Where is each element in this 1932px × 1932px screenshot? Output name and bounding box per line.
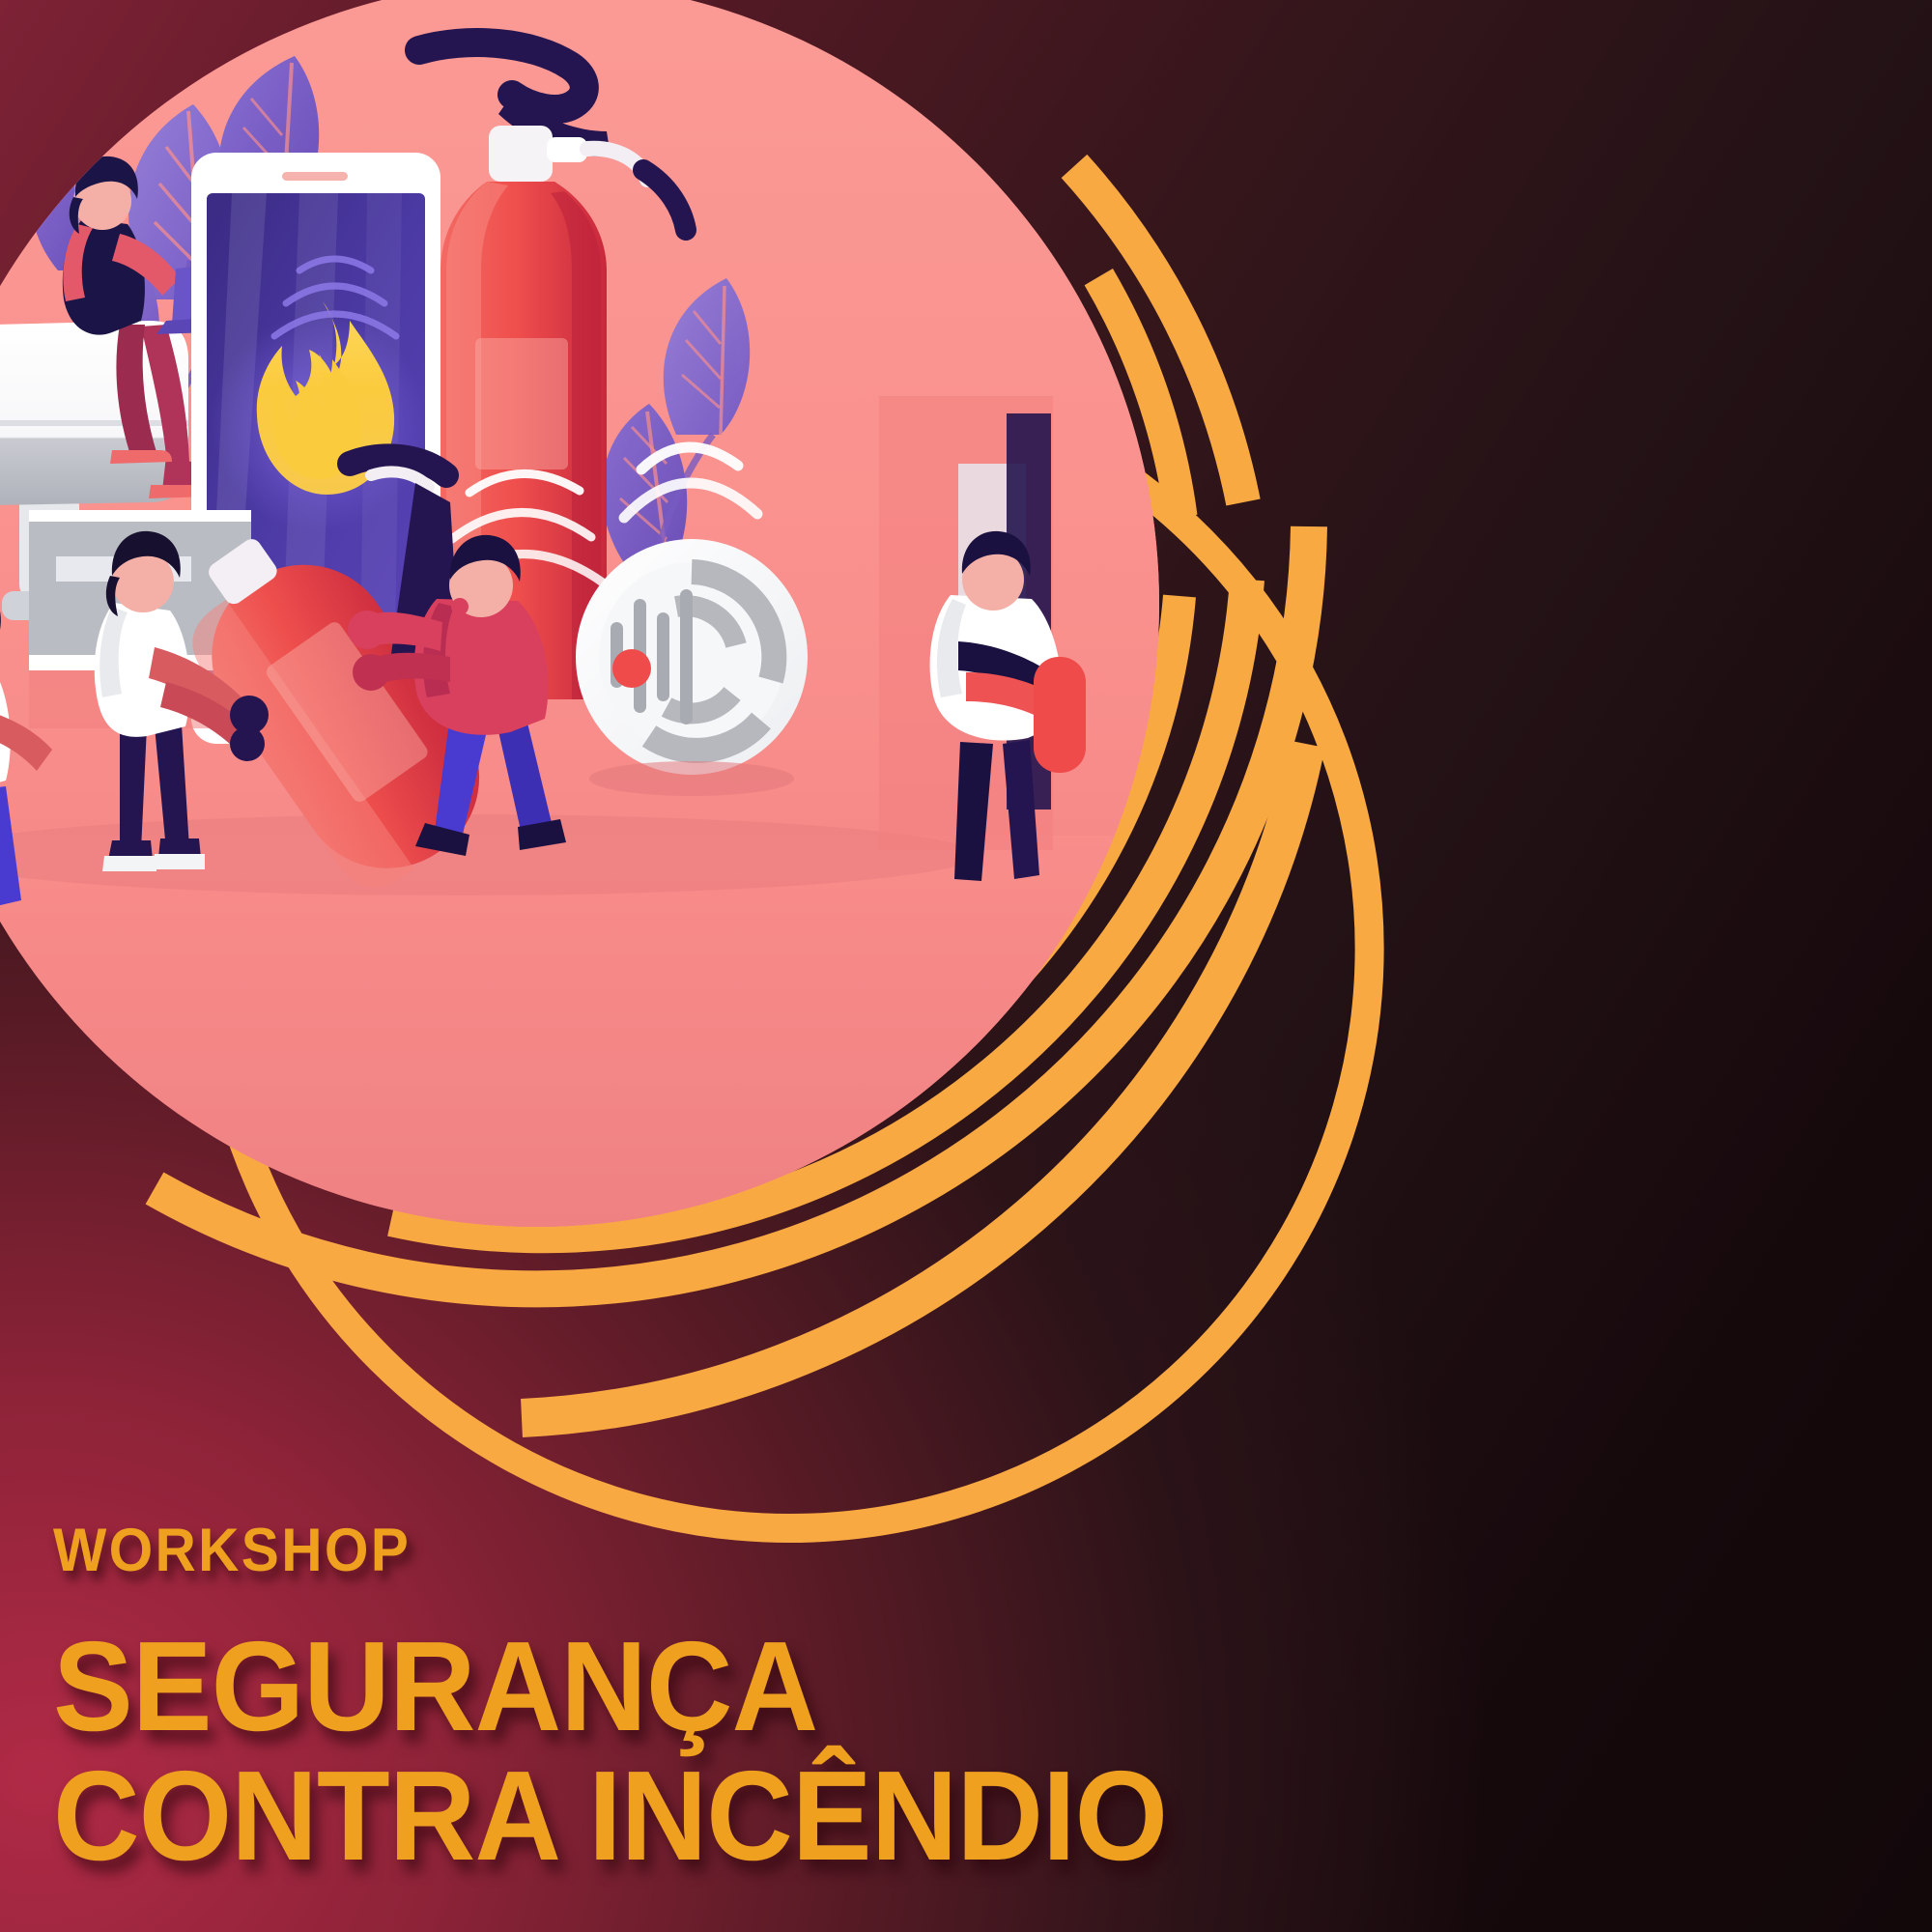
headline-line-2: CONTRA INCÊNDIO (53, 1751, 1415, 1882)
phone-speaker (282, 172, 348, 181)
headline-line-1: SEGURANÇA (53, 1615, 817, 1757)
poster-canvas: WORKSHOP SEGURANÇA CONTRA INCÊNDIO (0, 0, 1932, 1932)
extinguisher-label (475, 338, 568, 469)
circular-illustration-frame (0, 0, 1159, 1227)
page-title: SEGURANÇA CONTRA INCÊNDIO (53, 1622, 1415, 1882)
fire-safety-illustration (0, 0, 1159, 1227)
detector-led (612, 649, 651, 688)
kicker-label: WORKSHOP (53, 1520, 1401, 1581)
poster-text-block: WORKSHOP SEGURANÇA CONTRA INCÊNDIO (53, 1520, 1502, 1882)
